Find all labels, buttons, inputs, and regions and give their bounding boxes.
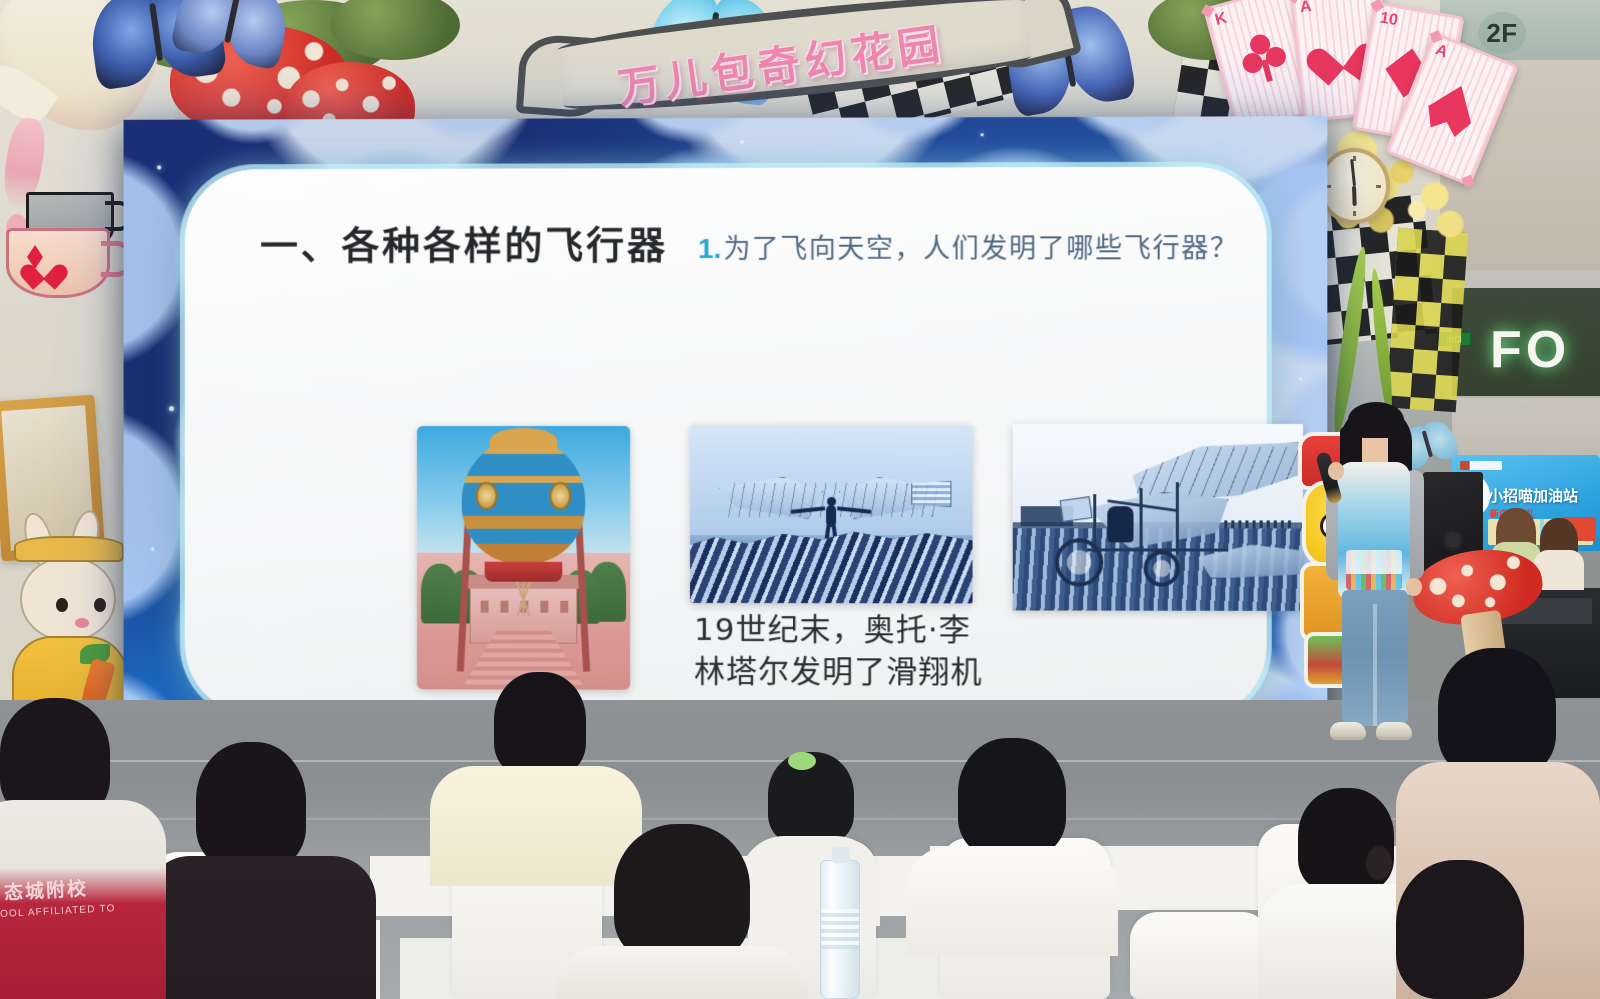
audience-head-5 <box>1438 648 1556 776</box>
audience-head-8 <box>614 824 750 962</box>
figure3-aircraft <box>1047 438 1299 589</box>
audience-head-9 <box>1396 860 1524 999</box>
hair-tie-green <box>788 752 816 770</box>
floor-level-sign-2f: 2F <box>1478 12 1526 54</box>
heart-suit-icon <box>29 255 59 283</box>
audience-head-6 <box>196 742 306 868</box>
presenter-student <box>1322 396 1426 752</box>
figure2-glider <box>719 477 943 537</box>
audience-body-6 <box>146 856 376 999</box>
caption-glider-line1: 19世纪末，奥托·李 <box>694 610 1005 652</box>
photo-scene: 2F 出口 FO 小招喵加油站 新户见面礼 <box>0 0 1600 999</box>
audience-body-8 <box>556 946 808 999</box>
wonderland-clock-icon <box>1318 148 1390 224</box>
audience-body-1 <box>430 766 642 886</box>
caption-glider-line2: 林塔尔发明了滑翔机 <box>694 651 1005 693</box>
caption-glider: 19世纪末，奥托·李 林塔尔发明了滑翔机 <box>694 610 1005 694</box>
store-sign-text: FO <box>1490 320 1570 380</box>
slide-question: 1. 为了飞向天空，人们发明了哪些飞行器？ <box>698 226 1239 266</box>
chair-6 <box>1130 912 1270 999</box>
slide-title: 一、各种各样的飞行器 <box>260 214 668 270</box>
water-bottle <box>820 860 860 999</box>
sponsor-logo <box>1460 461 1502 470</box>
slide-heading: 一、各种各样的飞行器 1. 为了飞向天空，人们发明了哪些飞行器？ <box>260 213 1239 270</box>
figure-hot-air-balloon <box>417 426 630 690</box>
question-number: 1. <box>698 233 721 265</box>
checkerboard-decor-4 <box>1386 228 1468 412</box>
led-presentation-screen: 一、各种各样的飞行器 1. 为了飞向天空，人们发明了哪些飞行器？ <box>124 116 1328 765</box>
sponsor-banner-title: 小招喵加油站 <box>1488 485 1578 506</box>
audience-body-3 <box>906 846 1118 956</box>
booth-child-2 <box>1540 518 1578 566</box>
audience-head-3 <box>958 738 1066 856</box>
presenter-vest <box>1338 462 1410 598</box>
uniform-school-name: 态城附校 <box>3 874 88 905</box>
figure-early-aeroplane <box>1013 424 1303 611</box>
figure1-balloon <box>462 438 586 564</box>
question-text: 为了飞向天空，人们发明了哪些飞行器？ <box>723 226 1238 266</box>
hair-tie-dark <box>1366 846 1392 880</box>
teacup-pink <box>6 228 110 298</box>
audience-head-1 <box>494 672 586 776</box>
figure-lilienthal-glider <box>690 425 973 603</box>
